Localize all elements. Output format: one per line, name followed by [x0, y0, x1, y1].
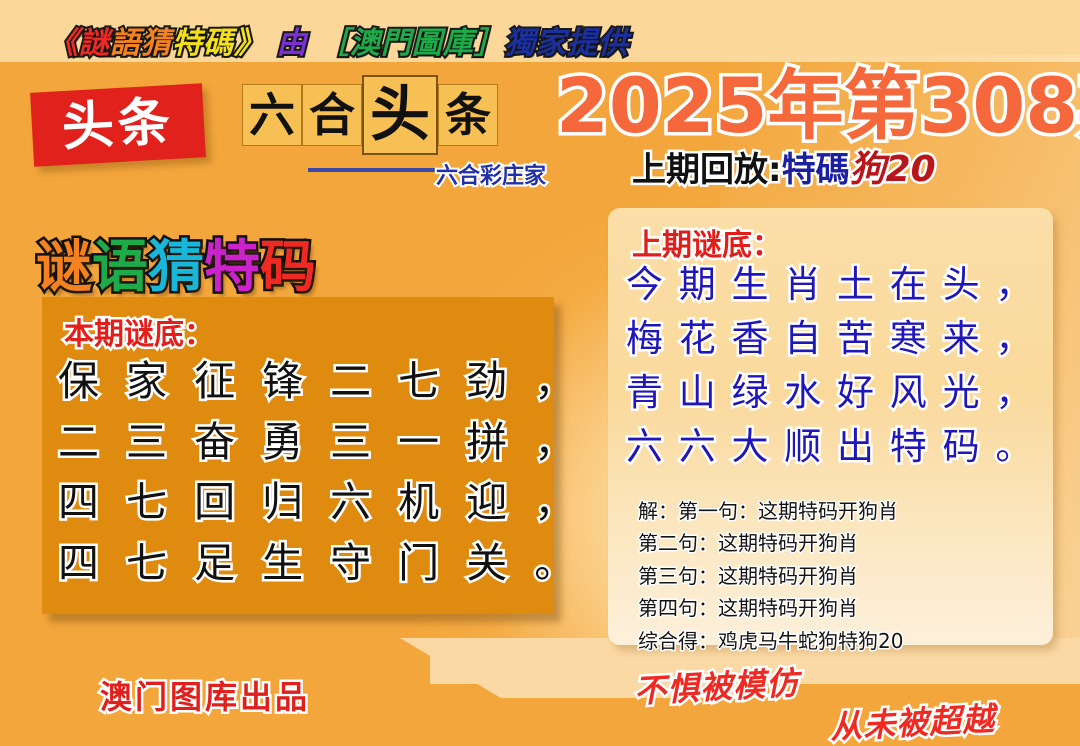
current-riddle-lines: 保 家 征 锋 二 七 劲 ， 二 三 奋 勇 三 一 拼 ， 四 七 回 归 … — [58, 351, 548, 594]
explanation-line: 综合得：鸡虎马牛蛇狗特狗20 — [638, 625, 1038, 657]
explanation-line: 第四句：这期特码开狗肖 — [638, 592, 1038, 624]
riddle-line: 四 七 足 生 守 门 关 。 — [58, 533, 548, 594]
riddle-line: 青 山 绿 水 好 风 光 ， — [626, 366, 1046, 420]
riddle-line: 二 三 奋 勇 三 一 拼 ， — [58, 412, 548, 473]
grid-cell: 六 — [242, 84, 302, 146]
grid-cell: 头 — [362, 75, 438, 155]
rainbow-title-char: 谜 — [36, 235, 92, 300]
sub-divider — [308, 168, 440, 172]
header-banner-part: 》 — [234, 26, 265, 61]
header-banner-part: 語 — [110, 26, 141, 61]
poster-root: 《謎語猜特碼》 由 ［澳門圖庫］獨家提供 头条 六合头条 六合彩庄家 2025年… — [0, 0, 1080, 746]
rainbow-title: 谜语猜特码 — [36, 240, 316, 296]
current-riddle-title: 本期谜底： — [64, 309, 214, 353]
previous-draw-label: 上期回放: — [632, 150, 782, 190]
previous-riddle-panel: 上期谜底： 今 期 生 肖 土 在 头 ， 梅 花 香 自 苦 寒 来 ， 青 … — [608, 208, 1053, 645]
grid-cell: 条 — [438, 84, 498, 146]
toutiao-badge-label: 头条 — [61, 96, 176, 154]
explanation-line: 第二句：这期特码开狗肖 — [638, 527, 1038, 559]
liuhe-toutiao-grid: 六合头条 — [242, 84, 498, 155]
header-banner: 《謎語猜特碼》 由 ［澳門圖庫］獨家提供 — [48, 18, 629, 62]
riddle-line: 梅 花 香 自 苦 寒 来 ， — [626, 312, 1046, 366]
footer-brand: 澳门图库出品 — [100, 672, 310, 718]
explanation-notes: 解：第一句：这期特码开狗肖 第二句：这期特码开狗肖 第三句：这期特码开狗肖 第四… — [638, 495, 1038, 657]
previous-draw-special-label: 特碼 — [782, 150, 850, 190]
header-banner-part: 特 — [172, 26, 203, 61]
header-banner-part: ］ — [474, 26, 505, 61]
rainbow-title-char: 码 — [260, 235, 316, 300]
explanation-line: 第三句：这期特码开狗肖 — [638, 560, 1038, 592]
header-banner-part: 澳門圖庫 — [350, 26, 474, 61]
header-banner-part: 由 — [265, 26, 319, 61]
explanation-line: 解：第一句：这期特码开狗肖 — [638, 495, 1038, 527]
riddle-line: 保 家 征 锋 二 七 劲 ， — [58, 351, 548, 412]
previous-riddle-lines: 今 期 生 肖 土 在 头 ， 梅 花 香 自 苦 寒 来 ， 青 山 绿 水 … — [626, 258, 1046, 474]
header-banner-part: 獨家提供 — [505, 26, 629, 61]
riddle-line: 六 六 大 顺 出 特 码 。 — [626, 420, 1046, 474]
previous-draw-value: 狗20 — [850, 149, 936, 190]
previous-draw-line: 上期回放:特碼狗20 — [632, 152, 936, 188]
header-banner-part: 猜 — [141, 26, 172, 61]
header-banner-part: 碼 — [203, 26, 234, 61]
header-banner-part: ［ — [319, 26, 350, 61]
rainbow-title-char: 特 — [204, 235, 260, 300]
issue-title: 2025年第308期 — [556, 68, 1080, 144]
toutiao-badge: 头条 — [30, 83, 206, 166]
header-banner-part: 謎 — [79, 26, 110, 61]
rainbow-title-char: 语 — [92, 235, 148, 300]
grid-cell: 合 — [302, 84, 362, 146]
footer-slogan-1: 不惧被模仿 — [633, 658, 800, 713]
rainbow-title-char: 猜 — [148, 235, 204, 300]
footer-slogan-2: 从未被超越 — [829, 694, 996, 746]
header-banner-part: 《 — [48, 26, 79, 61]
current-riddle-panel: 本期谜底： 保 家 征 锋 二 七 劲 ， 二 三 奋 勇 三 一 拼 ， 四 … — [42, 297, 554, 614]
riddle-line: 四 七 回 归 六 机 迎 ， — [58, 472, 548, 533]
riddle-line: 今 期 生 肖 土 在 头 ， — [626, 258, 1046, 312]
sub-text: 六合彩庄家 — [436, 158, 546, 190]
